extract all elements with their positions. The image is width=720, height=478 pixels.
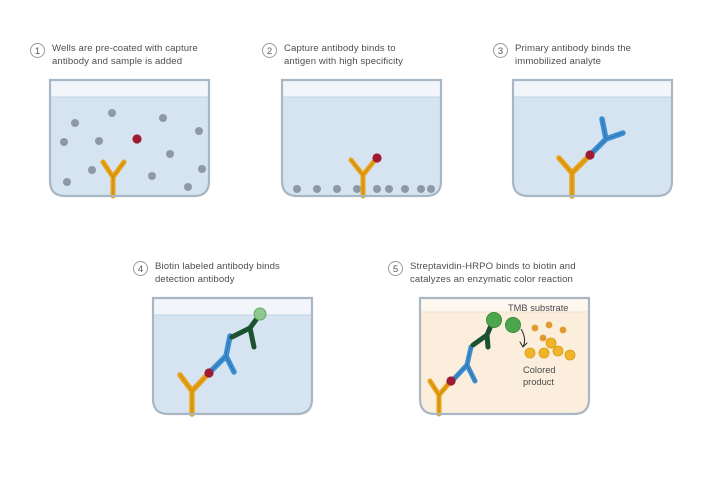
well-3-target-antigen	[585, 151, 594, 160]
well-5-target-antigen	[446, 377, 455, 386]
step-2-caption-line-2: antigen with high specificity	[284, 55, 403, 68]
well-5-streptavidin-2	[506, 318, 521, 333]
step-3-caption-line-2: immobilized analyte	[515, 55, 631, 68]
step-2: 2 Capture antibody binds to antigen with…	[262, 42, 444, 202]
step-3-header: 3 Primary antibody binds the immobilized…	[493, 42, 675, 68]
well-4-target-antigen	[204, 369, 213, 378]
step-5: 5 Streptavidin-HRPO binds to biotin and …	[388, 260, 592, 420]
well-4-biotin-tag	[254, 308, 266, 320]
step-4-caption: Biotin labeled antibody binds detection …	[155, 260, 280, 286]
step-1-header: 1 Wells are pre-coated with capture anti…	[30, 42, 212, 68]
step-4-number-badge: 4	[133, 261, 148, 276]
well-step-5: TMB substrate Colored product	[417, 295, 592, 420]
step-5-caption-line-2: catalyzes an enzymatic color reaction	[410, 273, 576, 286]
step-3-caption-line-1: Primary antibody binds the	[515, 42, 631, 55]
step-1-caption-line-1: Wells are pre-coated with capture	[52, 42, 198, 55]
step-2-header: 2 Capture antibody binds to antigen with…	[262, 42, 444, 68]
step-5-caption: Streptavidin-HRPO binds to biotin and ca…	[410, 260, 576, 286]
elisa-diagram: 1 Wells are pre-coated with capture anti…	[0, 0, 720, 478]
step-3-caption: Primary antibody binds the immobilized a…	[515, 42, 631, 68]
step-5-number-badge: 5	[388, 261, 403, 276]
step-5-caption-line-1: Streptavidin-HRPO binds to biotin and	[410, 260, 576, 273]
well-1-target-antigen	[132, 135, 141, 144]
step-5-header: 5 Streptavidin-HRPO binds to biotin and …	[388, 260, 592, 286]
step-1-caption: Wells are pre-coated with capture antibo…	[52, 42, 198, 68]
step-1-number-badge: 1	[30, 43, 45, 58]
step-3-number-badge: 3	[493, 43, 508, 58]
well-step-3	[510, 77, 675, 202]
step-4-caption-line-2: detection antibody	[155, 273, 280, 286]
step-1-caption-line-2: antibody and sample is added	[52, 55, 198, 68]
well-step-1	[47, 77, 212, 202]
tmb-substrate-label: TMB substrate	[508, 303, 568, 313]
step-2-caption: Capture antibody binds to antigen with h…	[284, 42, 403, 68]
well-2-target-antigen	[372, 154, 381, 163]
step-2-number-badge: 2	[262, 43, 277, 58]
well-step-4	[150, 295, 315, 420]
well-5-streptavidin-1	[487, 313, 502, 328]
colored-product-label-line-2: product	[523, 377, 554, 387]
step-4-header: 4 Biotin labeled antibody binds detectio…	[133, 260, 315, 286]
step-2-caption-line-1: Capture antibody binds to	[284, 42, 403, 55]
step-4-caption-line-1: Biotin labeled antibody binds	[155, 260, 280, 273]
colored-product-label-line-1: Colored	[523, 365, 556, 375]
well-step-2	[279, 77, 444, 202]
step-3: 3 Primary antibody binds the immobilized…	[493, 42, 675, 202]
step-1: 1 Wells are pre-coated with capture anti…	[30, 42, 212, 202]
step-4: 4 Biotin labeled antibody binds detectio…	[133, 260, 315, 420]
